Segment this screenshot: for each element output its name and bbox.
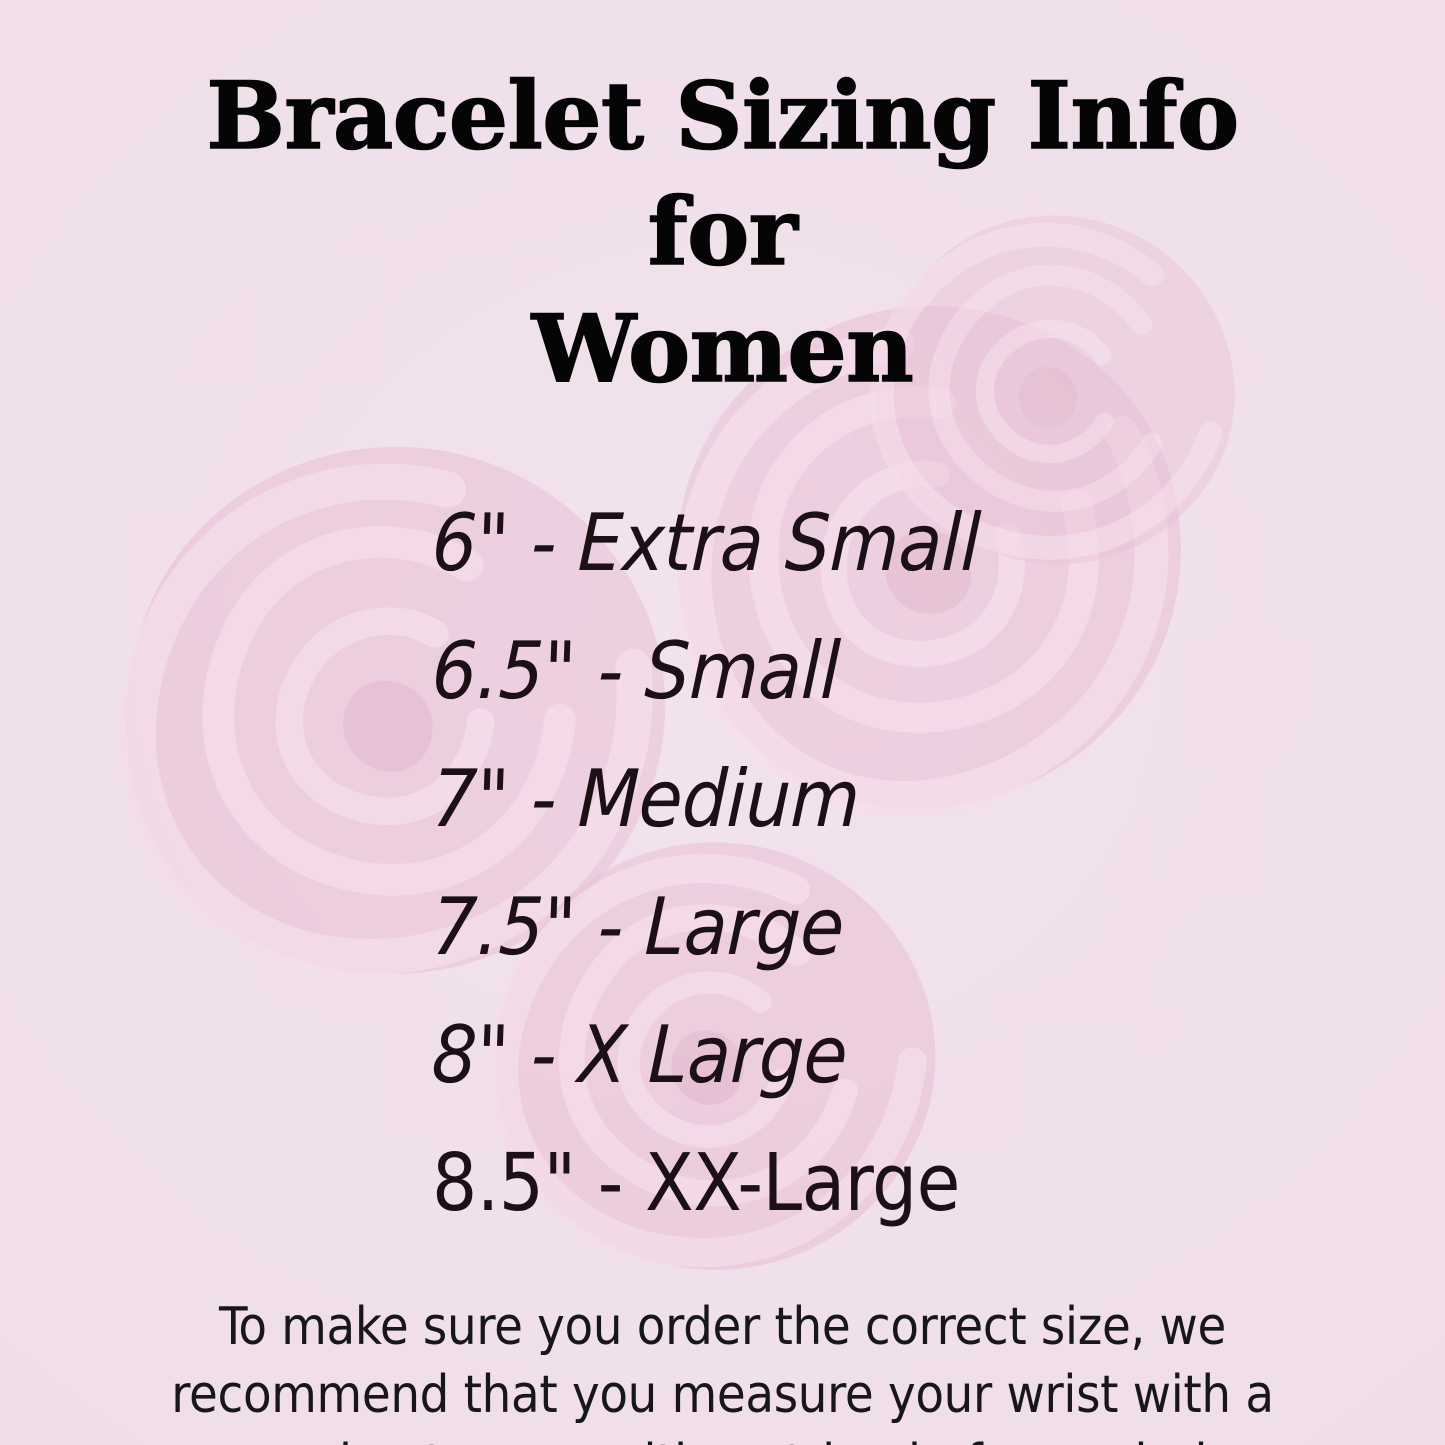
size-list: 6" - Extra Small 6.5" - Small 7" - Mediu… [0, 479, 1445, 1247]
size-list-item: 6.5" - Small [0, 607, 1445, 735]
size-line-text: 8" - X Large [430, 1009, 848, 1101]
size-line-text: 8.5" - XX-Large [432, 1137, 960, 1229]
bracelet-sizing-poster: Bracelet Sizing Info for Women 6" - Extr… [0, 0, 1445, 1445]
size-list-item: 7.5" - Large [0, 863, 1445, 991]
measuring-instructions: To make sure you order the correct size,… [143, 1293, 1303, 1445]
size-line-text: 6" - Extra Small [430, 497, 981, 589]
page-title-line-2: Women [532, 294, 914, 403]
poster-content: Bracelet Sizing Info for Women 6" - Extr… [0, 0, 1445, 1445]
size-list-item: 6" - Extra Small [0, 479, 1445, 607]
size-list-item: 8" - X Large [0, 991, 1445, 1119]
size-list-item: 7" - Medium [0, 735, 1445, 863]
size-line-text: 7" - Medium [430, 753, 861, 845]
page-title-line-1: Bracelet Sizing Info for [206, 61, 1238, 286]
page-title: Bracelet Sizing Info for Women [173, 0, 1273, 407]
size-line-text: 7.5" - Large [430, 881, 845, 973]
size-list-item: 8.5" - XX-Large [0, 1119, 1445, 1247]
size-line-text: 6.5" - Small [430, 625, 841, 717]
